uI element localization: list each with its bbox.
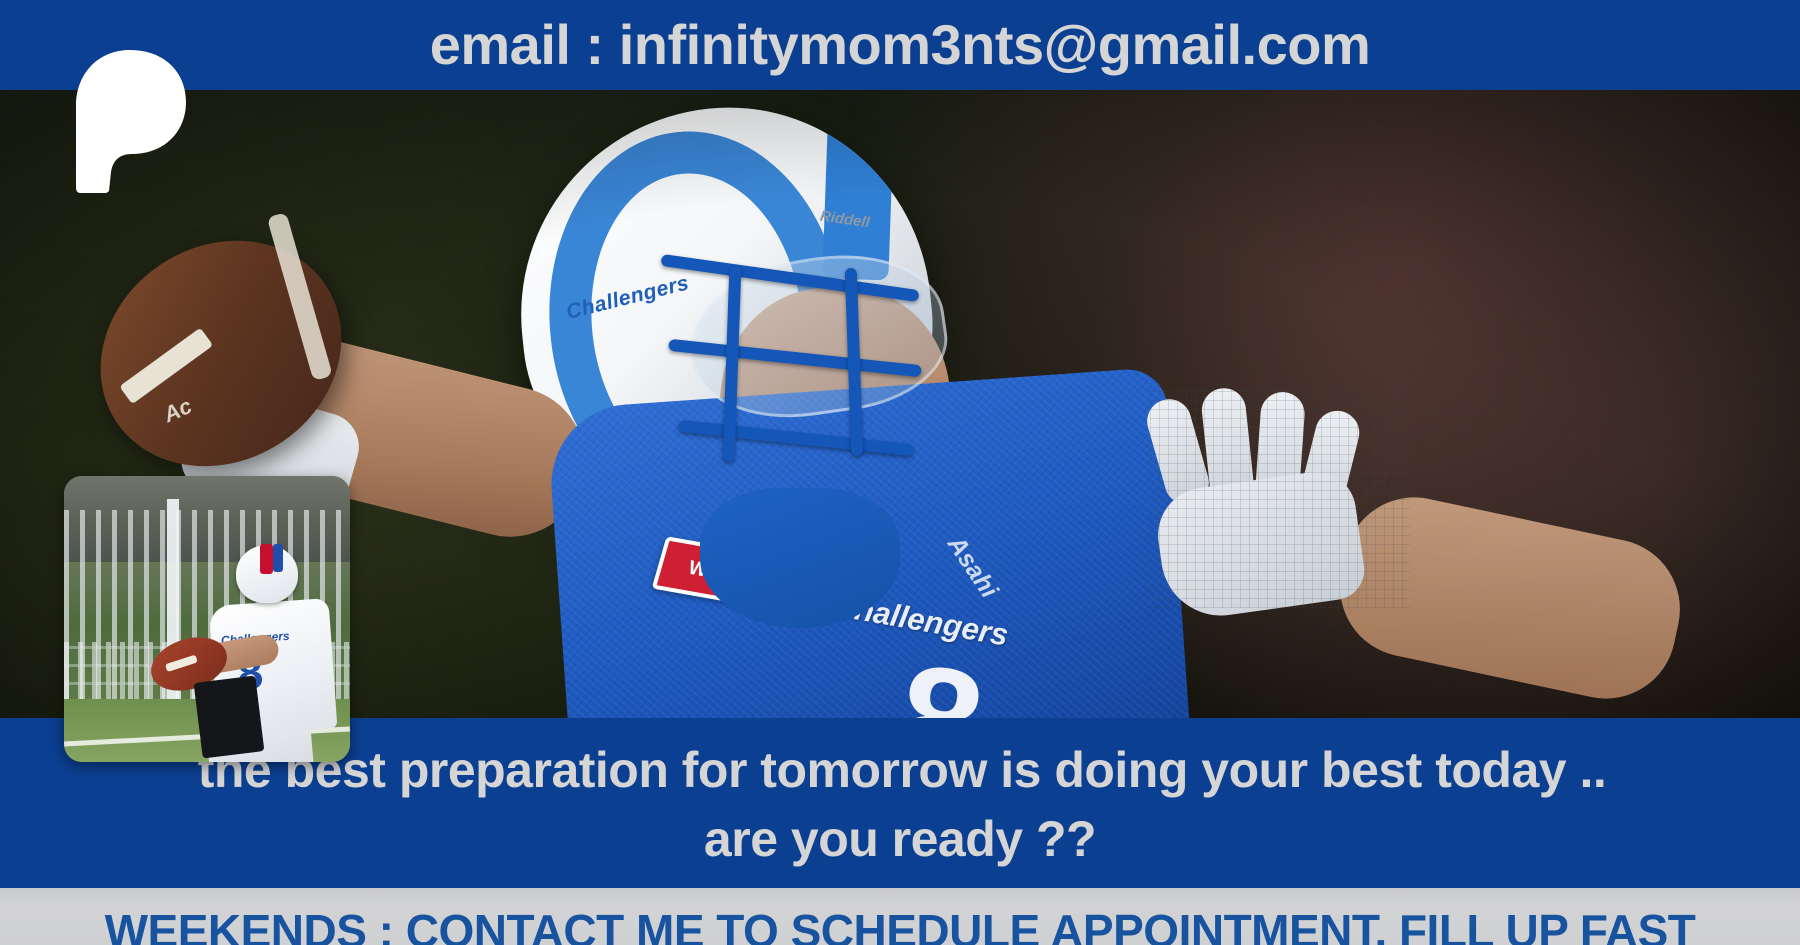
inset-thumbnail[interactable]: Challengers 8 — [64, 476, 350, 762]
helmet-chin-guard — [700, 488, 900, 628]
football-laces — [119, 328, 213, 405]
thumbnail-football-laces — [165, 655, 198, 672]
appointment-notice-text: WEEKENDS : CONTACT ME TO SCHEDULE APPOIN… — [0, 908, 1800, 945]
receiver-glove — [1150, 388, 1410, 608]
email-banner: email : infinitymom3nts@gmail.com — [0, 0, 1800, 90]
post-canvas: Ac WONDA Challengers Asahi 8 Challengers… — [0, 0, 1800, 945]
email-text: email : infinitymom3nts@gmail.com — [430, 17, 1371, 73]
quote-line-2: are you ready ?? — [704, 812, 1096, 867]
thumbnail-helmet-stripe-blue — [273, 544, 283, 572]
glove-grip-texture — [1150, 388, 1410, 608]
helmet-facemask — [660, 266, 940, 496]
football-brand-text: Ac — [160, 393, 196, 428]
appointment-notice-band: WEEKENDS : CONTACT ME TO SCHEDULE APPOIN… — [0, 888, 1800, 945]
facemask-bar — [678, 420, 914, 457]
thumbnail-player-helmet — [236, 545, 298, 603]
thumbnail-towel — [194, 676, 265, 759]
patreon-p-logo[interactable] — [68, 48, 188, 193]
facemask-bar — [668, 339, 922, 377]
thumbnail-helmet-stripe-red — [260, 544, 273, 574]
